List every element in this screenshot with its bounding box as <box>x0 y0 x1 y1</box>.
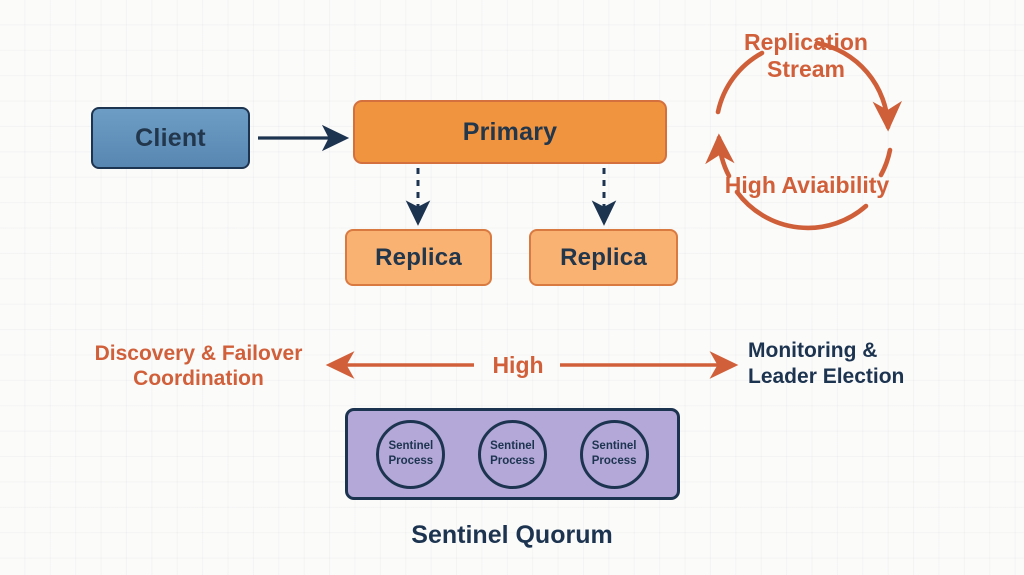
sentinel-process-1-line-2: Process <box>388 454 433 469</box>
node-replica-2-label: Replica <box>560 244 647 272</box>
sentinel-process-1-line-1: Sentinel <box>388 439 433 454</box>
discovery-label-line-2: Coordination <box>75 366 322 391</box>
sentinel-process-3[interactable]: Sentinel Process <box>580 420 649 489</box>
node-replica-2[interactable]: Replica <box>529 229 678 286</box>
replication-stream-line-1: Replication <box>713 29 899 56</box>
sentinel-quorum-container[interactable]: Sentinel Process Sentinel Process Sentin… <box>345 408 680 500</box>
sentinel-process-2-line-1: Sentinel <box>490 439 535 454</box>
sentinel-process-2-line-2: Process <box>490 454 535 469</box>
sentinel-process-2[interactable]: Sentinel Process <box>478 420 547 489</box>
label-discovery-failover-coordination: Discovery & Failover Coordination <box>75 341 322 391</box>
node-client[interactable]: Client <box>91 107 250 169</box>
label-high: High <box>481 352 555 379</box>
cycle-label-replication-stream: Replication Stream <box>713 29 899 82</box>
label-monitoring-leader-election: Monitoring & Leader Election <box>748 338 953 391</box>
sentinel-process-3-line-1: Sentinel <box>592 439 637 454</box>
node-client-label: Client <box>135 124 206 153</box>
monitoring-label-line-2: Leader Election <box>748 364 953 390</box>
discovery-label-line-1: Discovery & Failover <box>75 341 322 366</box>
node-primary-label: Primary <box>463 118 558 147</box>
sentinel-process-1[interactable]: Sentinel Process <box>376 420 445 489</box>
diagram-canvas: Client Primary Replica Replica Replicati… <box>0 0 1024 575</box>
node-replica-1-label: Replica <box>375 244 462 272</box>
monitoring-label-line-1: Monitoring & <box>748 338 953 364</box>
replication-stream-line-2: Stream <box>713 56 899 83</box>
node-replica-1[interactable]: Replica <box>345 229 492 286</box>
sentinel-process-3-line-2: Process <box>592 454 637 469</box>
cycle-label-high-availability: High Aviaibility <box>707 172 907 199</box>
node-primary[interactable]: Primary <box>353 100 667 164</box>
sentinel-quorum-caption: Sentinel Quorum <box>0 521 1024 550</box>
